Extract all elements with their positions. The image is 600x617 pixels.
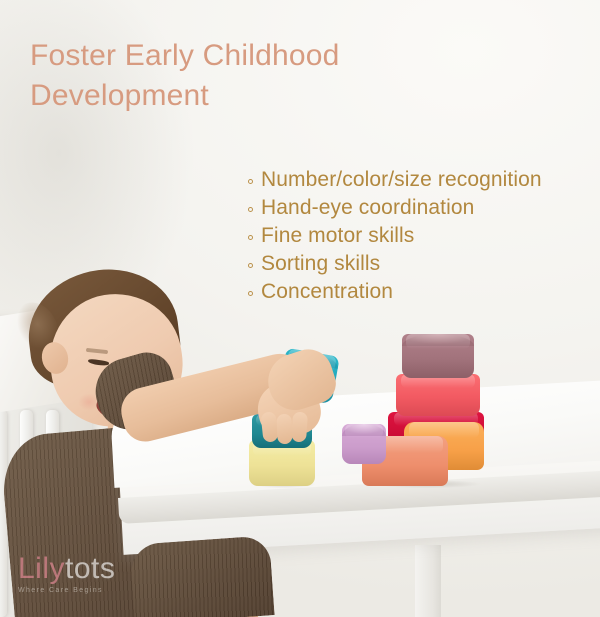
- child-finger: [291, 412, 308, 443]
- benefit-item: Hand-eye coordination: [248, 194, 596, 222]
- lilac-cup: [342, 424, 386, 464]
- table-leg: [415, 545, 441, 617]
- benefit-item: Sorting skills: [248, 250, 596, 278]
- brand-watermark: Lilytots Where Care Begins: [18, 552, 150, 604]
- mauve-cup: [402, 334, 474, 378]
- child-shorts: [129, 535, 274, 617]
- watermark-brand-part1: Lily: [18, 552, 65, 585]
- benefit-item: Number/color/size recognition: [248, 166, 596, 194]
- benefit-item: Concentration: [248, 278, 596, 306]
- benefits-list: Number/color/size recognition Hand-eye c…: [248, 166, 596, 306]
- headline-line-1: Foster Early Childhood: [30, 36, 450, 76]
- headline-line-2: Development: [30, 76, 450, 116]
- watermark-brand-part2: tots: [65, 552, 115, 585]
- coral-cup: [396, 374, 480, 416]
- promo-image: Foster Early Childhood Development Numbe…: [0, 0, 600, 617]
- watermark-brand: Lilytots: [18, 552, 150, 586]
- cup-rim: [342, 424, 386, 436]
- benefit-item: Fine motor skills: [248, 222, 596, 250]
- child-finger: [276, 414, 292, 445]
- page-title: Foster Early Childhood Development: [30, 36, 450, 116]
- cup-rim: [402, 334, 474, 346]
- watermark-tagline: Where Care Begins: [18, 587, 150, 594]
